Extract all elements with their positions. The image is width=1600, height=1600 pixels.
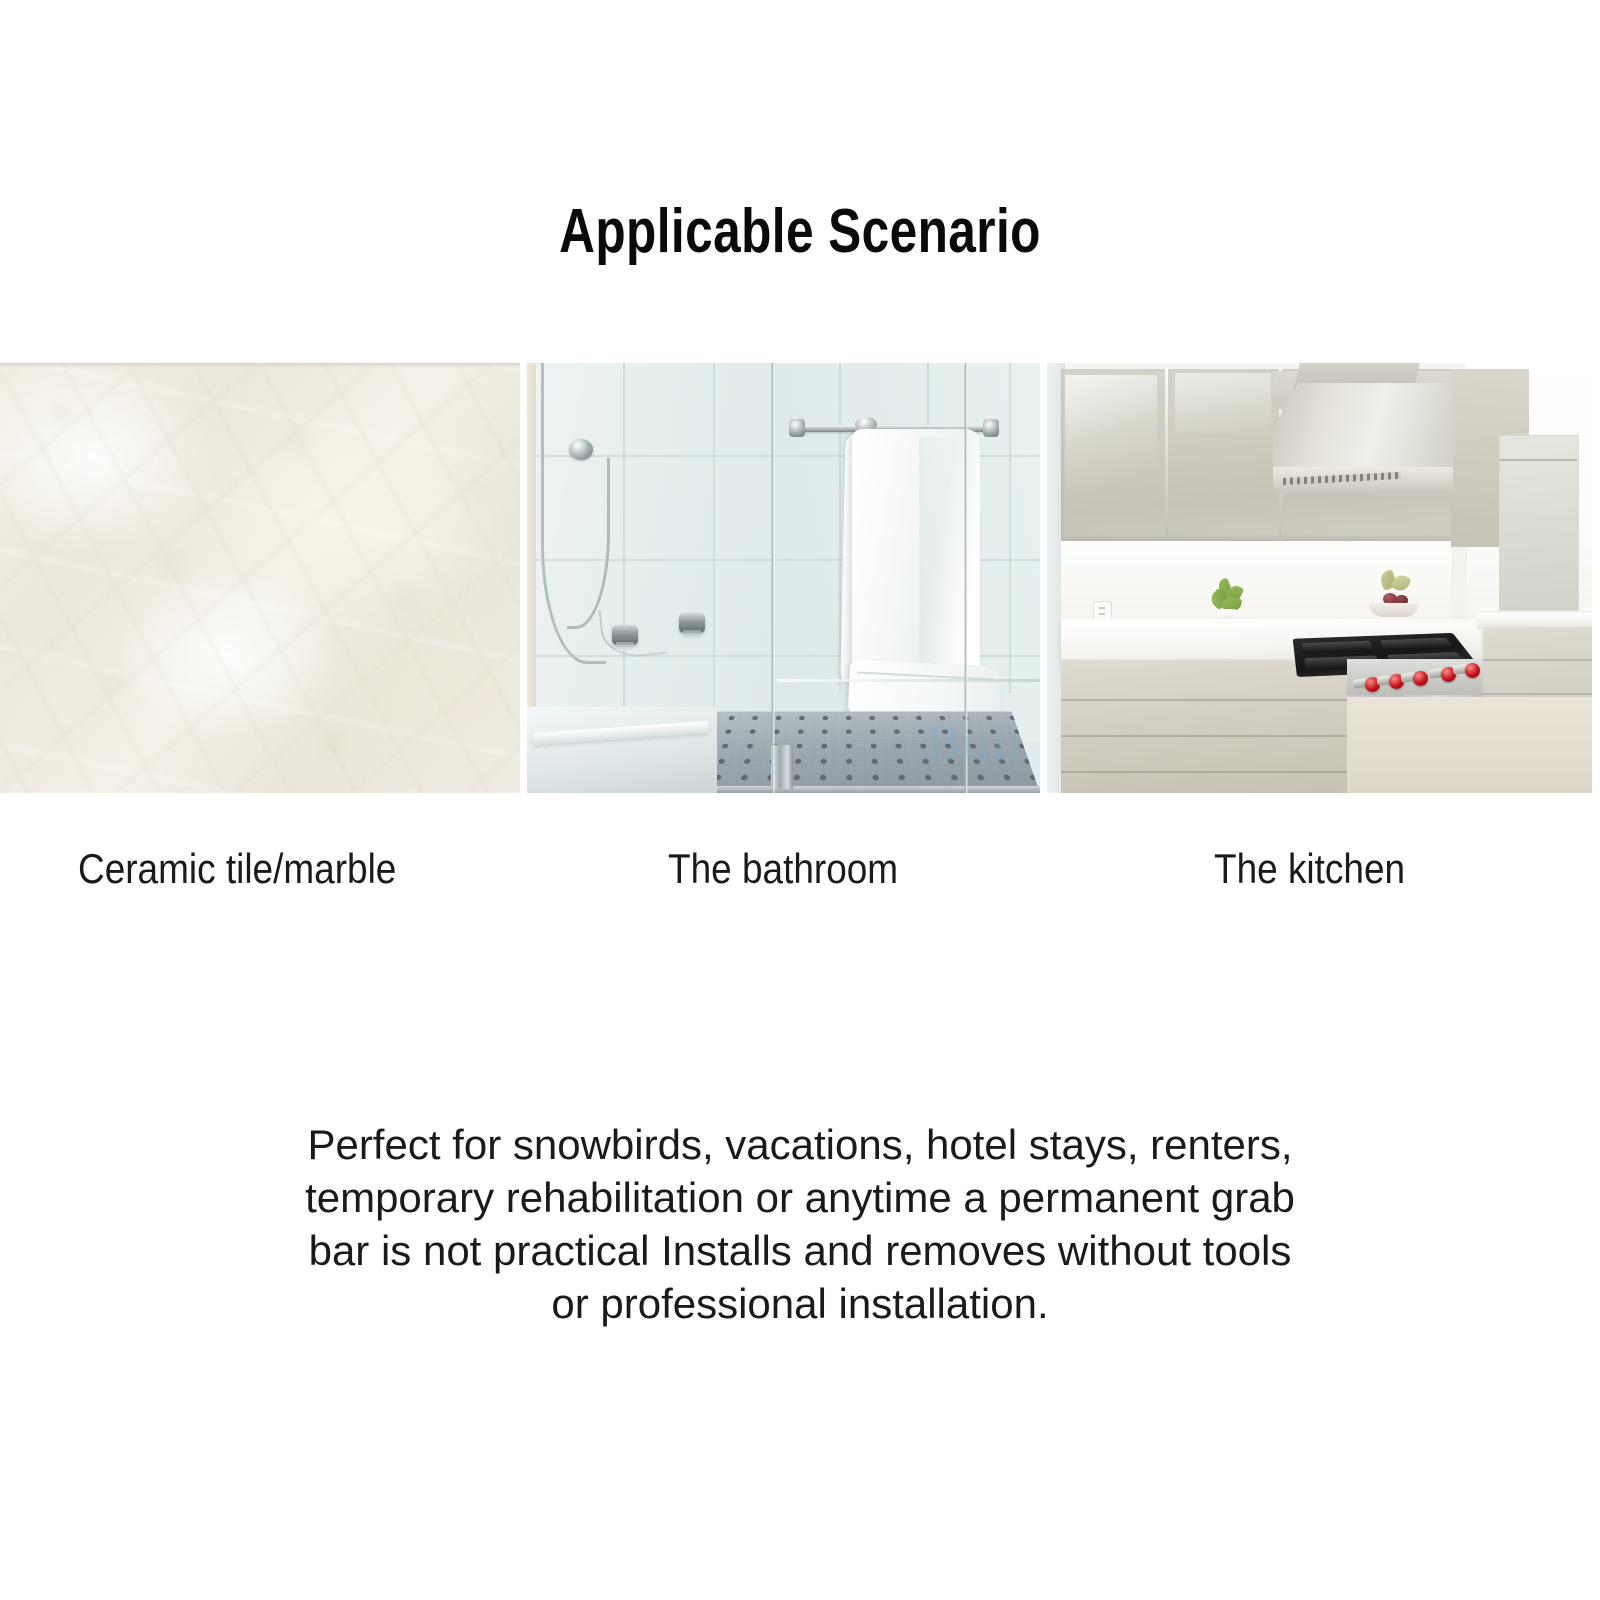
tile-grout-line	[1009, 363, 1011, 693]
burner-knob	[1465, 663, 1480, 678]
shower-head-bracket	[569, 439, 593, 460]
glass-panel-edge	[771, 363, 775, 793]
kitchen-floor	[1347, 697, 1592, 793]
scenario-image-ceramic-tile-marble	[0, 363, 520, 793]
shower-ledge	[527, 707, 717, 793]
towel-shadow	[919, 437, 959, 695]
far-cabinet-seam	[1483, 659, 1592, 661]
shower-valve-handle	[679, 613, 705, 633]
burner-grate	[1380, 638, 1454, 651]
scenario-image-bathroom: Buu	[527, 363, 1040, 793]
description-line: or professional installation.	[220, 1277, 1380, 1330]
tile-grout-line	[623, 363, 625, 723]
page-title: Applicable Scenario	[160, 196, 1440, 267]
burner-grate	[1302, 641, 1374, 654]
caption-ceramic-tile-marble: Ceramic tile/marble	[78, 845, 396, 893]
base-cabinet-seam	[1061, 699, 1361, 701]
marble-top-edge	[0, 363, 520, 368]
base-cabinet-seam	[1061, 735, 1361, 737]
description-line: bar is not practical Installs and remove…	[220, 1224, 1380, 1277]
far-cabinet-seam	[1499, 459, 1577, 461]
far-cabinet	[1499, 435, 1579, 611]
scenario-image-kitchen	[1047, 363, 1592, 793]
marble-mottling	[0, 363, 520, 793]
description-line: temporary rehabilitation or anytime a pe…	[220, 1171, 1380, 1224]
scenario-image-strip: Buu	[0, 363, 1600, 793]
caption-bathroom: The bathroom	[668, 845, 898, 893]
towel-rail-mount	[983, 419, 999, 437]
bathroom-scene: Buu	[527, 363, 1040, 793]
cabinet-seam	[1165, 369, 1168, 541]
cabinet-gloss-reflection	[1175, 373, 1271, 433]
countertop-fruit-bowl	[1365, 571, 1421, 619]
tile-grout-line	[713, 363, 715, 723]
far-cabinet-seam	[1483, 693, 1592, 695]
description-line: Perfect for snowbirds, vacations, hotel …	[220, 1118, 1380, 1171]
caption-kitchen: The kitchen	[1214, 845, 1405, 893]
burner-knob	[1413, 671, 1428, 686]
kitchen-scene	[1047, 363, 1592, 793]
base-cabinets	[1061, 663, 1361, 793]
shower-valve-handle	[612, 625, 638, 645]
towel-rail-mount	[789, 419, 805, 437]
bowl	[1369, 603, 1419, 617]
product-description: Perfect for snowbirds, vacations, hotel …	[220, 1118, 1380, 1330]
image-watermark: Buu	[926, 717, 1022, 771]
cabinet-gloss-reflection	[1065, 375, 1157, 525]
base-cabinet-seam	[1061, 771, 1361, 773]
glass-panel-bottom-edge	[777, 679, 1040, 682]
